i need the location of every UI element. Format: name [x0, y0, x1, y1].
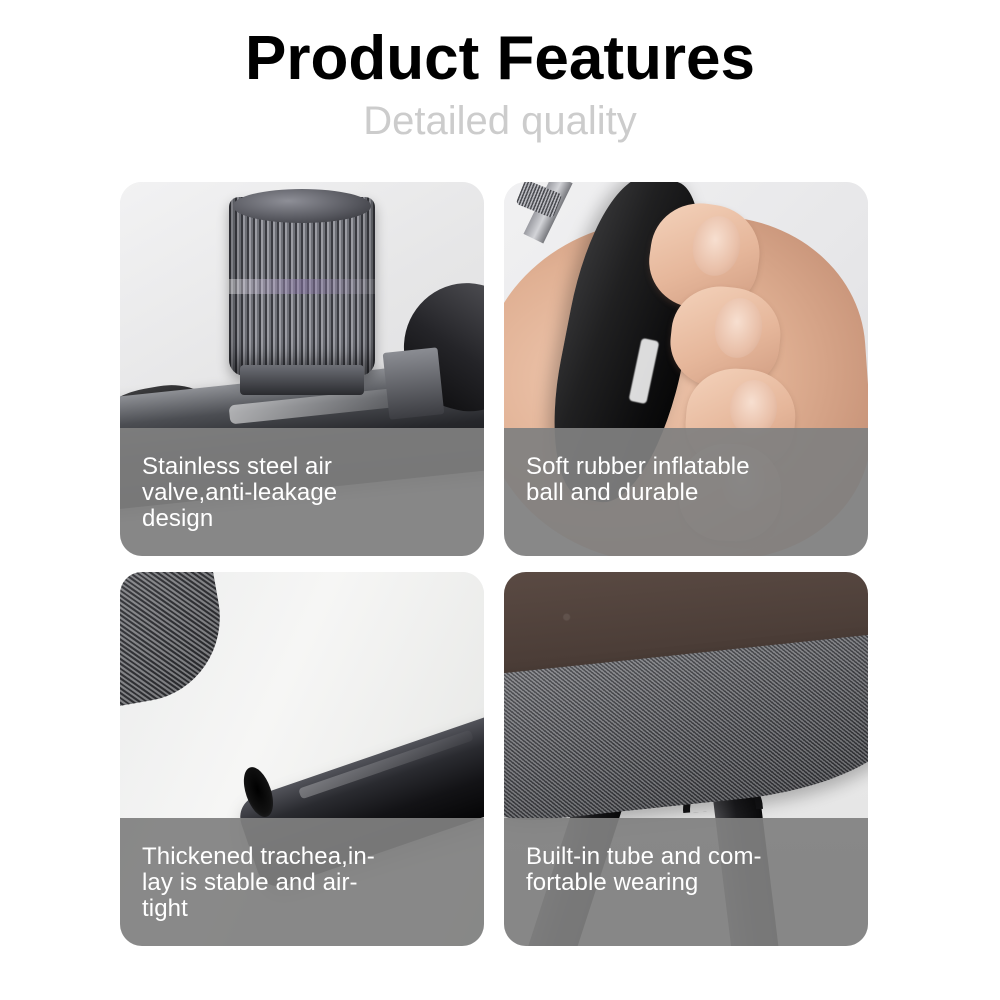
feature-card-soft-rubber-inflatable-ball[interactable]: Soft rubber inflatable ball and durable: [504, 182, 868, 556]
feature-caption-4: Built-in tube and com- fortable wearing: [504, 818, 868, 946]
product-features-page: Product Features Detailed quality Stainl…: [0, 0, 1000, 1000]
feature-card-stainless-steel-air-valve[interactable]: Stainless steel air valve,anti-leakage d…: [120, 182, 484, 556]
feature-caption-1: Stainless steel air valve,anti-leakage d…: [120, 428, 484, 556]
page-subtitle: Detailed quality: [0, 93, 1000, 143]
feature-card-thickened-trachea[interactable]: Thickened trachea,in- lay is stable and …: [120, 572, 484, 946]
feature-caption-3: Thickened trachea,in- lay is stable and …: [120, 818, 484, 946]
feature-grid: Stainless steel air valve,anti-leakage d…: [120, 182, 868, 946]
page-header: Product Features Detailed quality: [0, 0, 1000, 143]
feature-caption-2: Soft rubber inflatable ball and durable: [504, 428, 868, 556]
page-title: Product Features: [0, 0, 1000, 93]
feature-card-built-in-tube[interactable]: Built-in tube and com- fortable wearing: [504, 572, 868, 946]
